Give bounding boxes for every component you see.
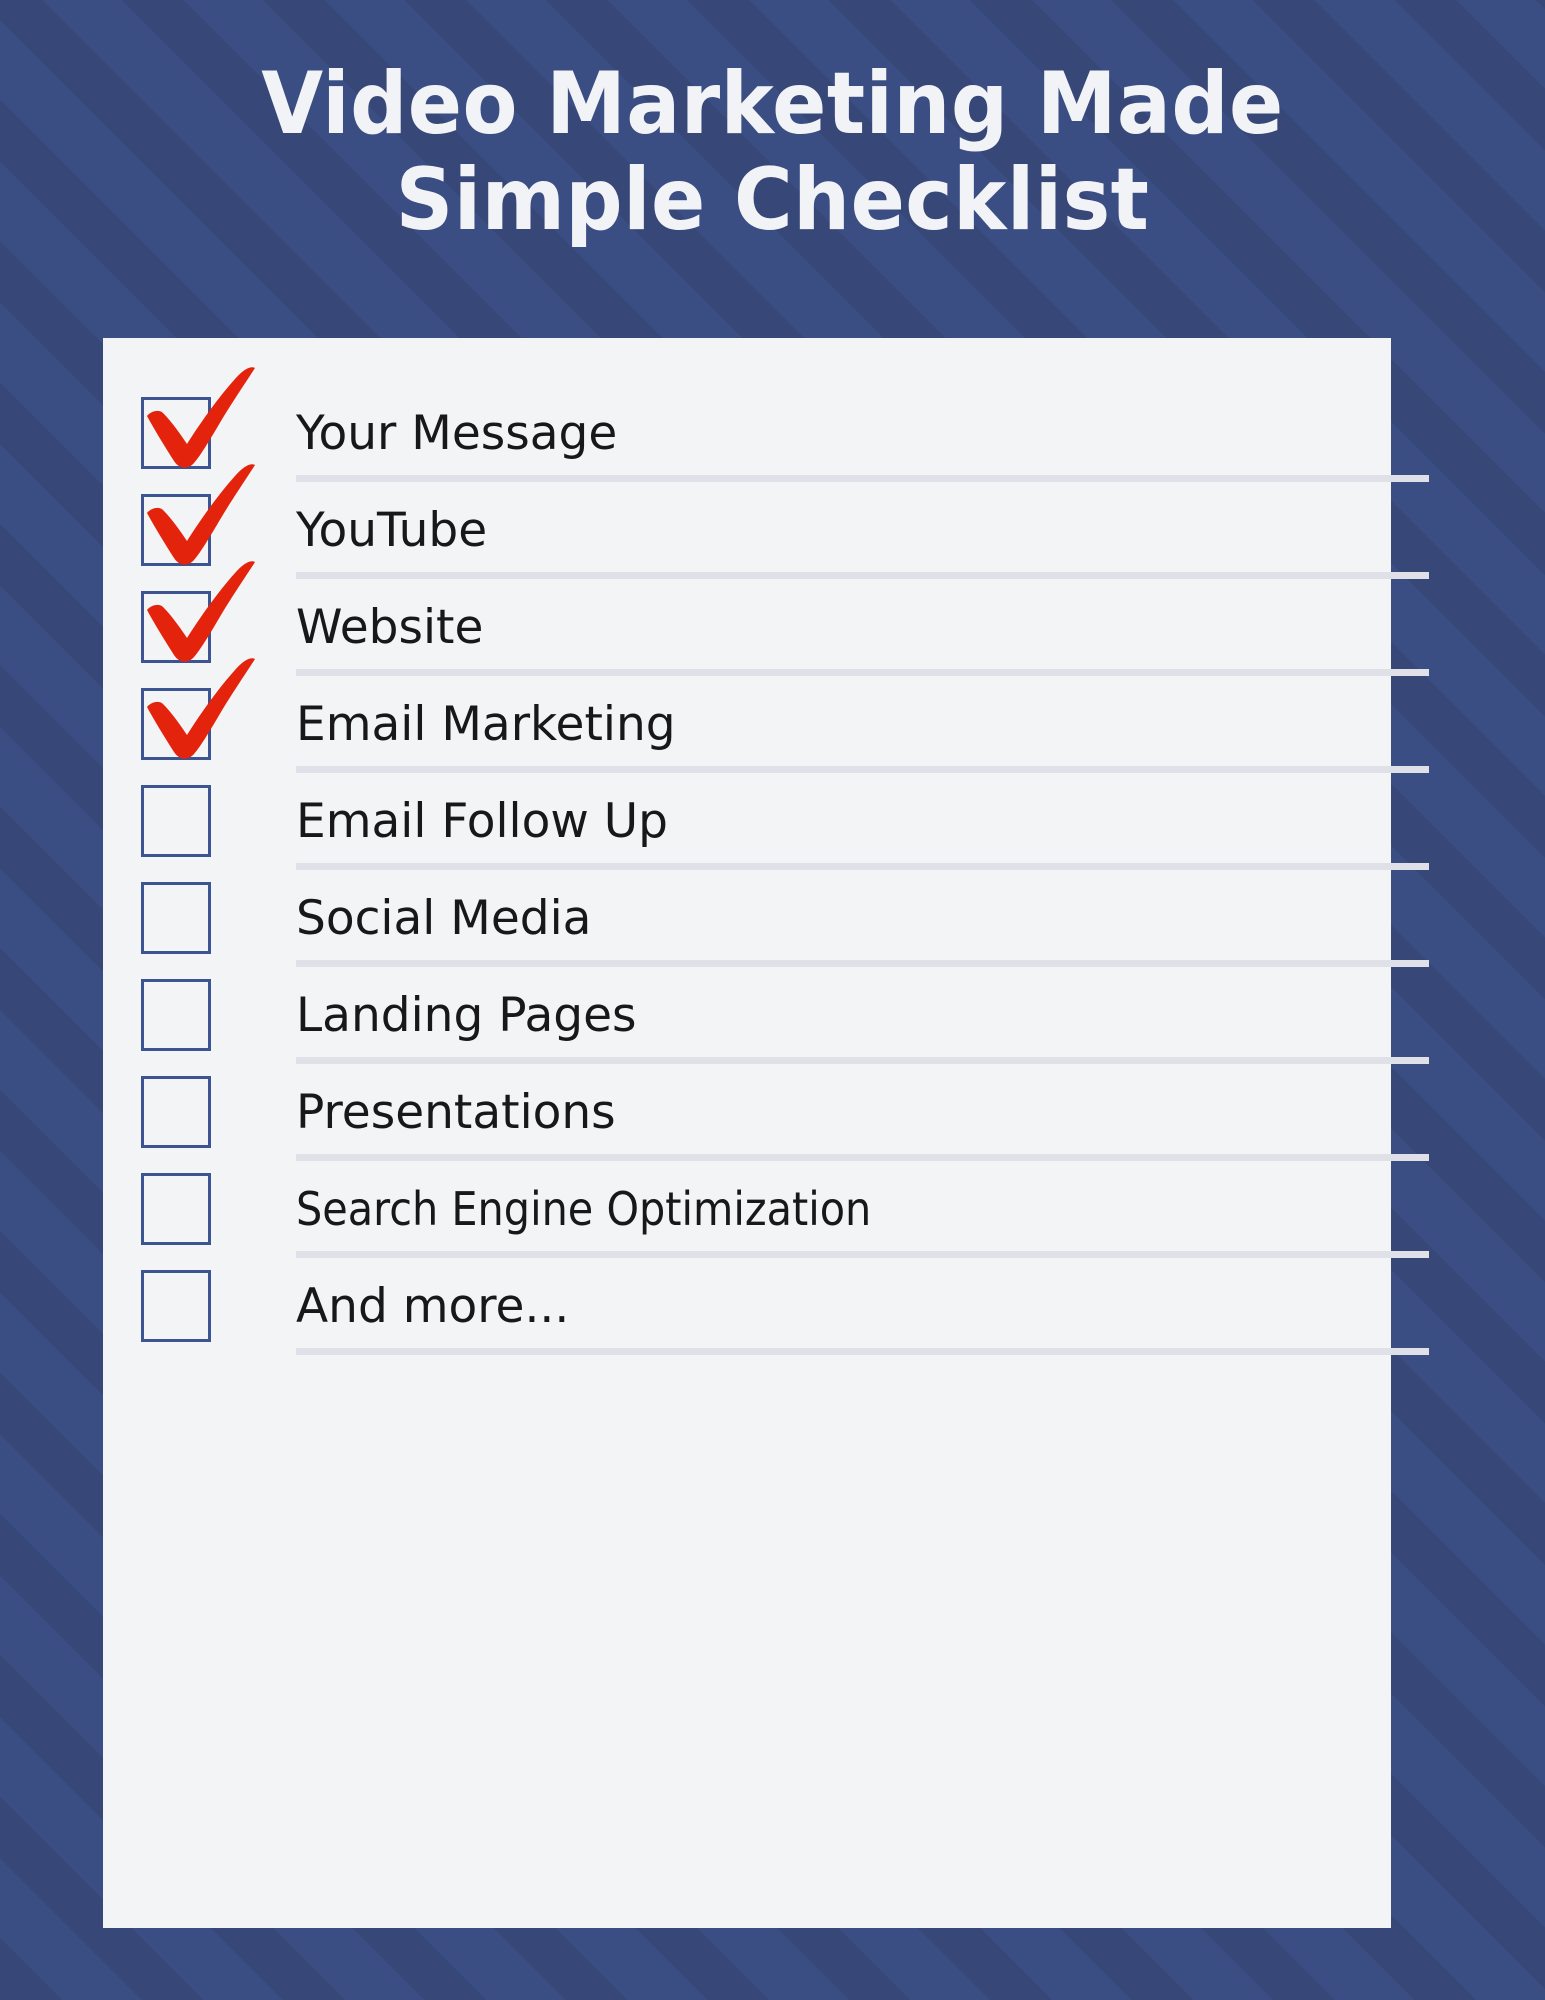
row-separator — [296, 863, 1429, 870]
row-separator — [296, 572, 1429, 579]
checklist-item-label: And more... — [296, 1258, 569, 1355]
row-separator — [296, 766, 1429, 773]
row-separator — [296, 1348, 1429, 1355]
checklist-item-label: Website — [296, 579, 483, 676]
checklist-item-label: YouTube — [296, 482, 487, 579]
checklist-item-label: Email Follow Up — [296, 773, 668, 870]
checkbox-unchecked[interactable] — [141, 1076, 211, 1148]
checkbox-unchecked[interactable] — [141, 979, 211, 1051]
checklist-row[interactable]: Presentations — [141, 1064, 1391, 1161]
checkbox-unchecked[interactable] — [141, 882, 211, 954]
checklist-item-label: Search Engine Optimization — [296, 1161, 871, 1258]
checklist-row[interactable]: Search Engine Optimization — [141, 1161, 1391, 1258]
checklist-list: Your MessageYouTubeWebsiteEmail Marketin… — [103, 338, 1391, 1355]
checklist-row[interactable]: Social Media — [141, 870, 1391, 967]
checklist-row[interactable]: Email Marketing — [141, 676, 1391, 773]
row-separator — [296, 1154, 1429, 1161]
checklist-row[interactable]: And more... — [141, 1258, 1391, 1355]
checklist-card: Your MessageYouTubeWebsiteEmail Marketin… — [103, 338, 1391, 1928]
checklist-item-label: Email Marketing — [296, 676, 676, 773]
row-separator — [296, 1057, 1429, 1064]
checklist-row[interactable]: Landing Pages — [141, 967, 1391, 1064]
checkbox-checked[interactable] — [141, 397, 211, 469]
row-separator — [296, 669, 1429, 676]
page-title: Video Marketing Made Simple Checklist — [0, 56, 1545, 248]
checklist-row[interactable]: YouTube — [141, 482, 1391, 579]
checklist-row[interactable]: Email Follow Up — [141, 773, 1391, 870]
checklist-poster: Video Marketing Made Simple Checklist Yo… — [0, 0, 1545, 2000]
checklist-item-label: Presentations — [296, 1064, 616, 1161]
checkbox-checked[interactable] — [141, 591, 211, 663]
checkbox-checked[interactable] — [141, 688, 211, 760]
checklist-row[interactable]: Your Message — [141, 385, 1391, 482]
checklist-item-label: Landing Pages — [296, 967, 637, 1064]
checkbox-unchecked[interactable] — [141, 785, 211, 857]
checklist-item-label: Social Media — [296, 870, 591, 967]
page-title-line-1: Video Marketing Made — [91, 56, 1453, 152]
row-separator — [296, 960, 1429, 967]
row-separator — [296, 1251, 1429, 1258]
row-separator — [296, 475, 1429, 482]
checkbox-unchecked[interactable] — [141, 1173, 211, 1245]
page-title-line-2: Simple Checklist — [91, 152, 1453, 248]
checklist-item-label: Your Message — [296, 385, 617, 482]
checkbox-unchecked[interactable] — [141, 1270, 211, 1342]
checklist-row[interactable]: Website — [141, 579, 1391, 676]
checkbox-checked[interactable] — [141, 494, 211, 566]
